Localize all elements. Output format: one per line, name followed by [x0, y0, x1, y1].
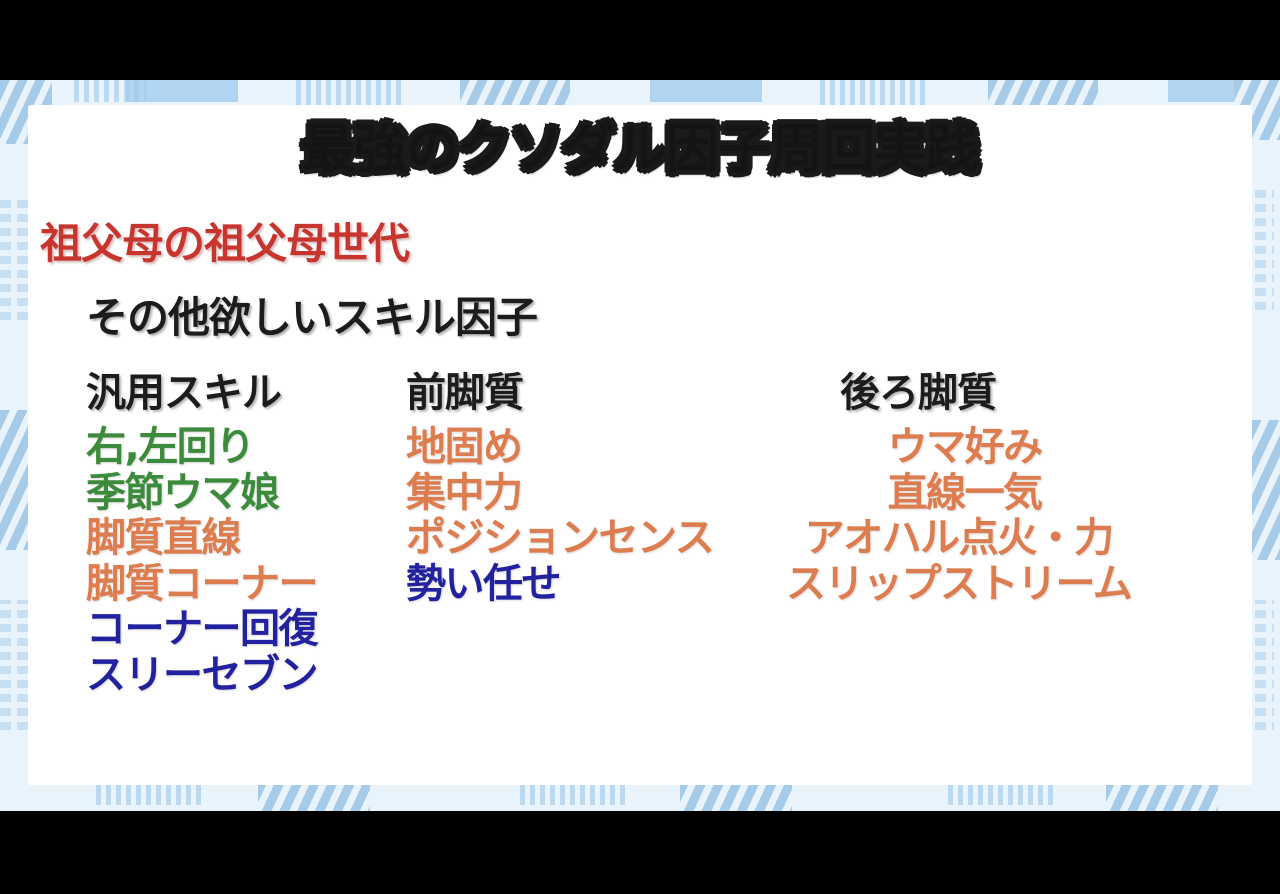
decorative-block: [126, 80, 238, 102]
skill-item[interactable]: 脚質コーナー: [86, 566, 317, 604]
column-header: 後ろ脚質: [840, 373, 1131, 413]
skill-item[interactable]: アオハル点火・力: [786, 520, 1131, 558]
generation-label: 祖父母の祖父母世代: [40, 223, 409, 265]
skill-item[interactable]: 地固め: [406, 429, 713, 467]
skill-list: ウマ好み 直線一気 アオハル点火・力 スリップストリーム: [798, 429, 1131, 603]
skill-item[interactable]: 季節ウマ娘: [86, 475, 317, 513]
skill-item[interactable]: コーナー回復: [86, 611, 317, 649]
column-header: 前脚質: [406, 373, 713, 413]
video-player-frame: 最強のクソダル因子周回実践 祖父母の祖父母世代 その他欲しいスキル因子 汎用スキ…: [0, 0, 1280, 894]
slide-card: 最強のクソダル因子周回実践 祖父母の祖父母世代 その他欲しいスキル因子 汎用スキ…: [28, 105, 1252, 785]
skill-item[interactable]: 脚質直線: [86, 520, 317, 558]
skill-item[interactable]: ウマ好み: [798, 429, 1131, 467]
skill-list: 地固め 集中力 ポジションセンス 勢い任せ: [406, 429, 713, 603]
skill-item[interactable]: 右,左回り: [86, 429, 317, 467]
slide-title: 最強のクソダル因子周回実践: [28, 123, 1252, 176]
skill-item[interactable]: スリップストリーム: [786, 566, 1131, 604]
decorative-stripes: [680, 781, 792, 811]
video-content-area: 最強のクソダル因子周回実践 祖父母の祖父母世代 その他欲しいスキル因子 汎用スキ…: [0, 80, 1280, 811]
decorative-ticks: [296, 80, 406, 106]
decorative-ticks: [820, 80, 930, 106]
skill-column-general: 汎用スキル 右,左回り 季節ウマ娘 脚質直線 脚質コーナー コーナー回復 スリー…: [86, 373, 317, 703]
decorative-block: [650, 80, 762, 102]
column-header: 汎用スキル: [86, 373, 317, 413]
skill-list: 右,左回り 季節ウマ娘 脚質直線 脚質コーナー コーナー回復 スリーセブン: [86, 429, 317, 695]
skill-column-front: 前脚質 地固め 集中力 ポジションセンス 勢い任せ: [406, 373, 713, 611]
skill-item[interactable]: 勢い任せ: [406, 566, 713, 604]
decorative-stripes: [258, 781, 370, 811]
skill-item[interactable]: ポジションセンス: [406, 520, 713, 558]
skill-item[interactable]: 直線一気: [798, 475, 1131, 513]
section-heading: その他欲しいスキル因子: [86, 297, 537, 339]
skill-column-back: 後ろ脚質 ウマ好み 直線一気 アオハル点火・力 スリップストリーム: [798, 373, 1131, 611]
skill-item[interactable]: 集中力: [406, 475, 713, 513]
decorative-stripes: [1106, 781, 1218, 811]
skill-item[interactable]: スリーセブン: [86, 657, 317, 695]
